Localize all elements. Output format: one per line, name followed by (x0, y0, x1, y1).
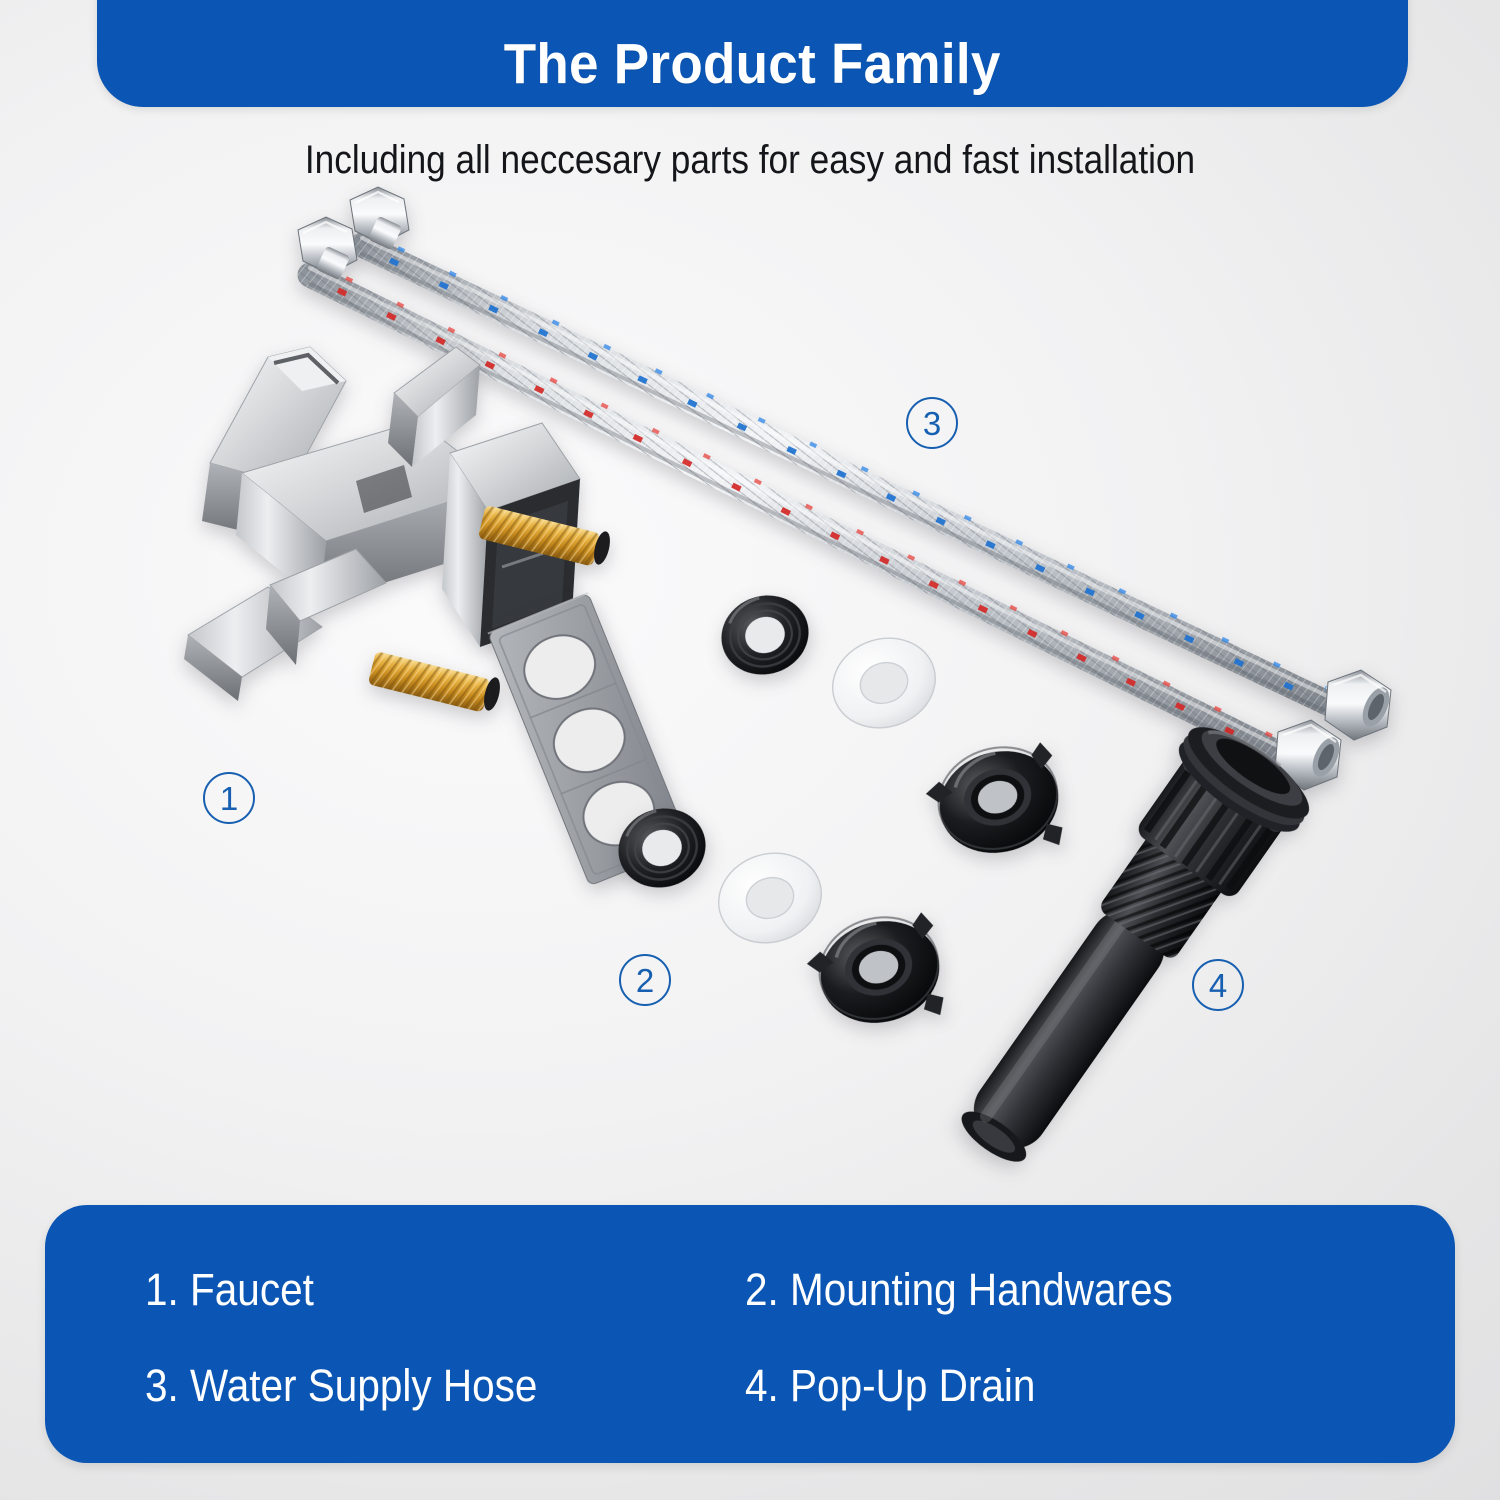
header-bar: The Product Family (97, 0, 1408, 107)
legend-item-faucet: 1. Faucet (145, 1267, 685, 1312)
pop-up-drain (930, 715, 1310, 1205)
page-subtitle: Including all neccesary parts for easy a… (90, 138, 1410, 183)
product-family-infographic: The Product Family Including all neccesa… (0, 0, 1500, 1500)
marker-4: 4 (1192, 959, 1244, 1011)
marker-2: 2 (619, 954, 671, 1006)
legend-item-pop-up-drain: 4. Pop-Up Drain (745, 1363, 1384, 1408)
hose-fitting-bottom-cold (1325, 670, 1395, 740)
plastic-washer (821, 625, 947, 741)
legend-panel: 1. Faucet 2. Mounting Handwares 3. Water… (45, 1205, 1455, 1463)
plastic-washer (707, 840, 833, 956)
legend-item-water-supply-hose: 3. Water Supply Hose (145, 1363, 685, 1408)
page-title: The Product Family (504, 36, 1001, 107)
legend-grid: 1. Faucet 2. Mounting Handwares 3. Water… (45, 1205, 1455, 1463)
marker-1: 1 (203, 772, 255, 824)
legend-item-mounting-hardware: 2. Mounting Handwares (745, 1267, 1384, 1312)
rubber-washer (711, 584, 819, 685)
marker-3: 3 (906, 397, 958, 449)
